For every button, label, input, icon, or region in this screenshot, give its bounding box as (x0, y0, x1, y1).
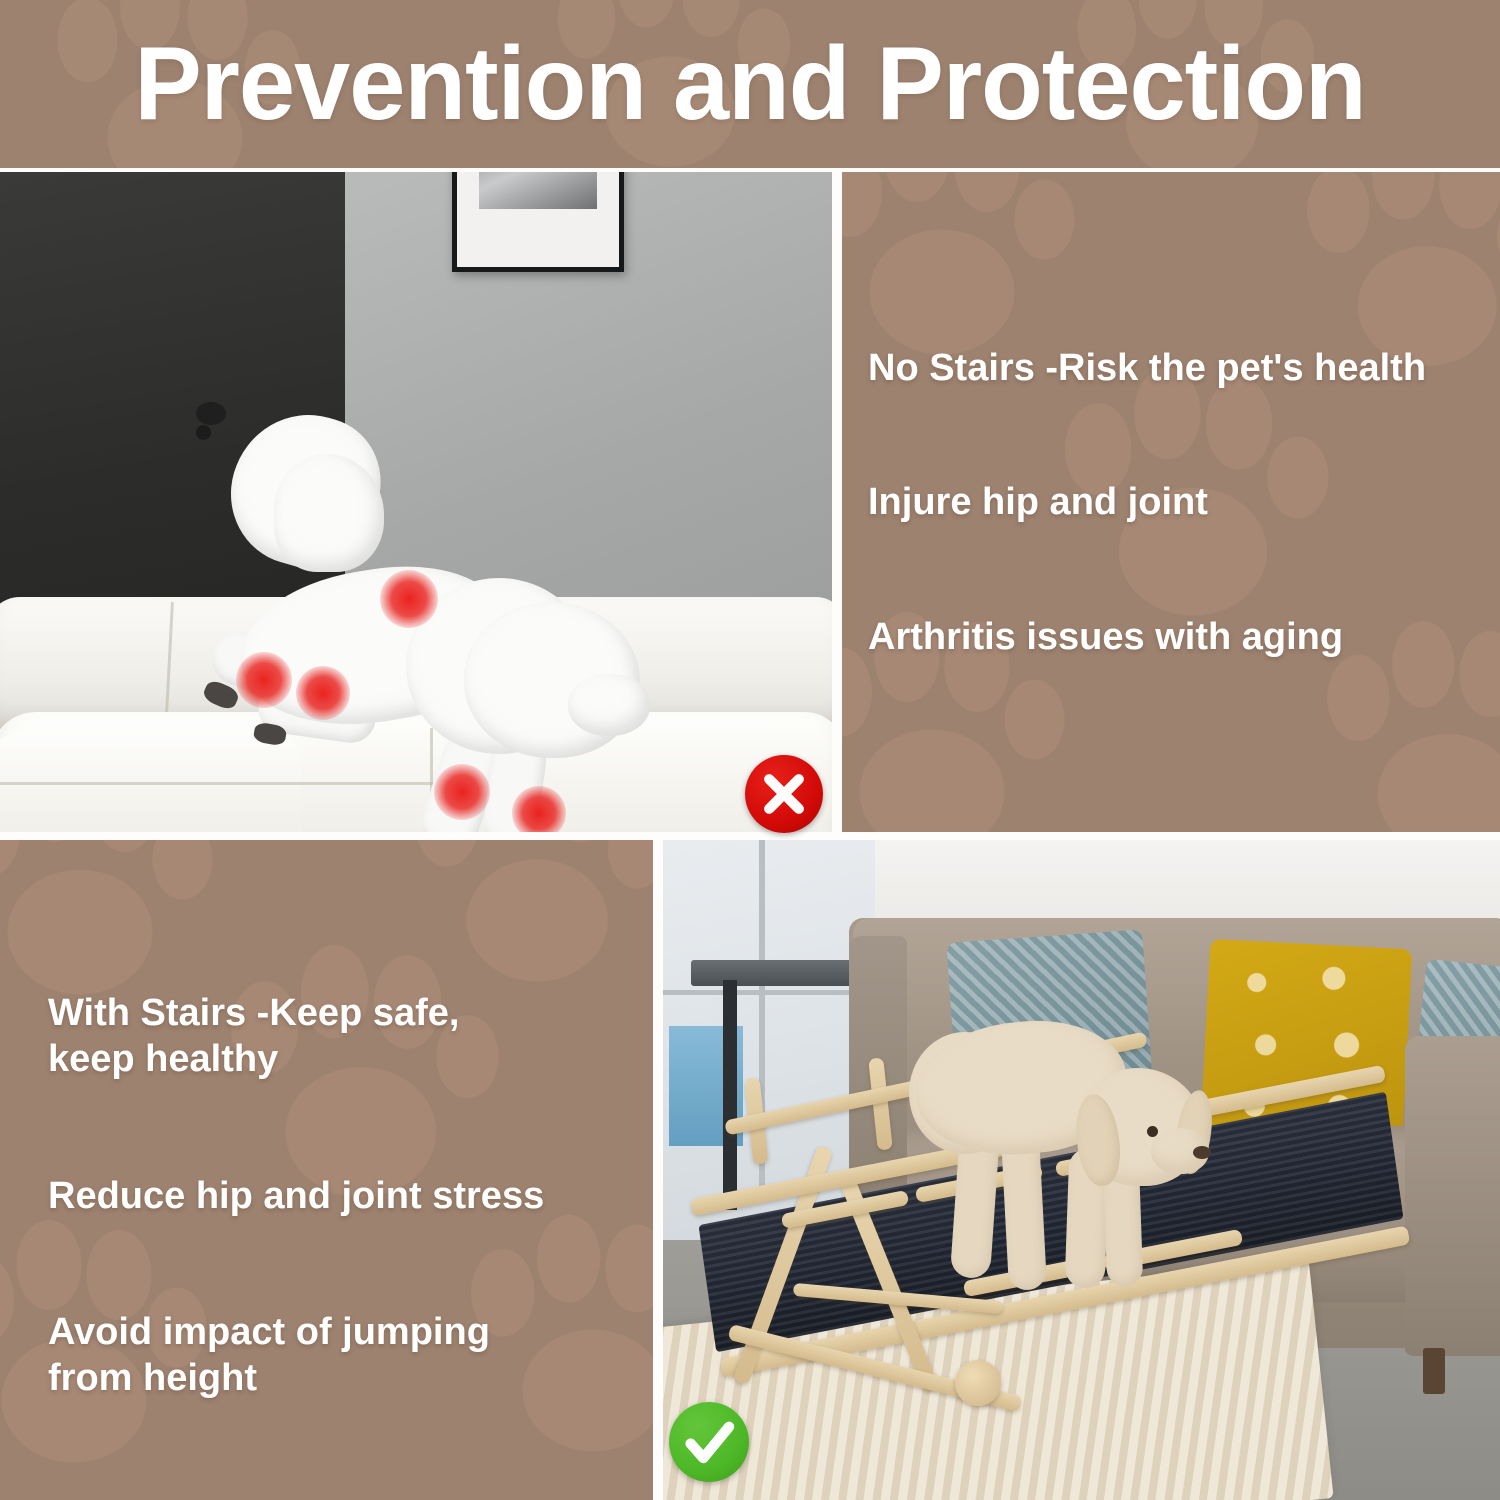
infographic-poster: Prevention and Protection (0, 0, 1500, 1500)
dog-eye (196, 425, 211, 440)
risk-bullet-2: Injure hip and joint (868, 479, 1488, 525)
pain-point-rear-knee (236, 652, 292, 708)
pain-point-rear-hock (296, 666, 350, 720)
benefit-bullet-3: Avoid impact of jumpingfrom height (48, 1309, 628, 1402)
risk-bullet-list: No Stairs -Risk the pet's health Injure … (868, 345, 1488, 660)
photo-dog-jumping-off-sofa (0, 172, 832, 832)
apricot-doodle-dog (909, 998, 1209, 1328)
pain-point-hip (380, 570, 438, 628)
dog-tail-tuft (274, 454, 384, 572)
window-mullion (663, 990, 875, 995)
dog-nose (1193, 1146, 1211, 1159)
sofa-arm-right (1405, 1036, 1500, 1356)
photo-dog-on-ramp (663, 840, 1500, 1500)
framed-artwork (452, 172, 624, 272)
header-banner: Prevention and Protection (0, 0, 1500, 168)
risk-bullet-3: Arthritis issues with aging (868, 614, 1488, 660)
check-icon (669, 1402, 749, 1482)
pain-point-front-paw (512, 786, 566, 832)
cross-glyph (745, 755, 823, 833)
bichon-dog (196, 402, 636, 822)
dog-leg (1001, 1133, 1047, 1291)
benefit-bullet-2: Reduce hip and joint stress (48, 1173, 628, 1219)
dog-nose (196, 402, 226, 425)
risk-bullet-1: No Stairs -Risk the pet's health (868, 345, 1488, 391)
sofa-leg (1423, 1348, 1445, 1394)
dog-eye (1147, 1126, 1158, 1137)
cross-icon (745, 755, 823, 833)
page-title: Prevention and Protection (23, 0, 1478, 168)
dog-muzzle (568, 674, 650, 736)
side-table-leg (723, 980, 737, 1210)
benefit-bullet-1: With Stairs -Keep safe,keep healthy (48, 990, 628, 1083)
pain-point-shoulder (434, 764, 490, 820)
ramp-pivot-knob (955, 1360, 1001, 1406)
living-room-ramp-scene (663, 840, 1500, 1500)
benefit-bullet-list: With Stairs -Keep safe,keep healthy Redu… (48, 990, 628, 1402)
living-room-scene (0, 172, 832, 832)
check-glyph (669, 1402, 749, 1482)
